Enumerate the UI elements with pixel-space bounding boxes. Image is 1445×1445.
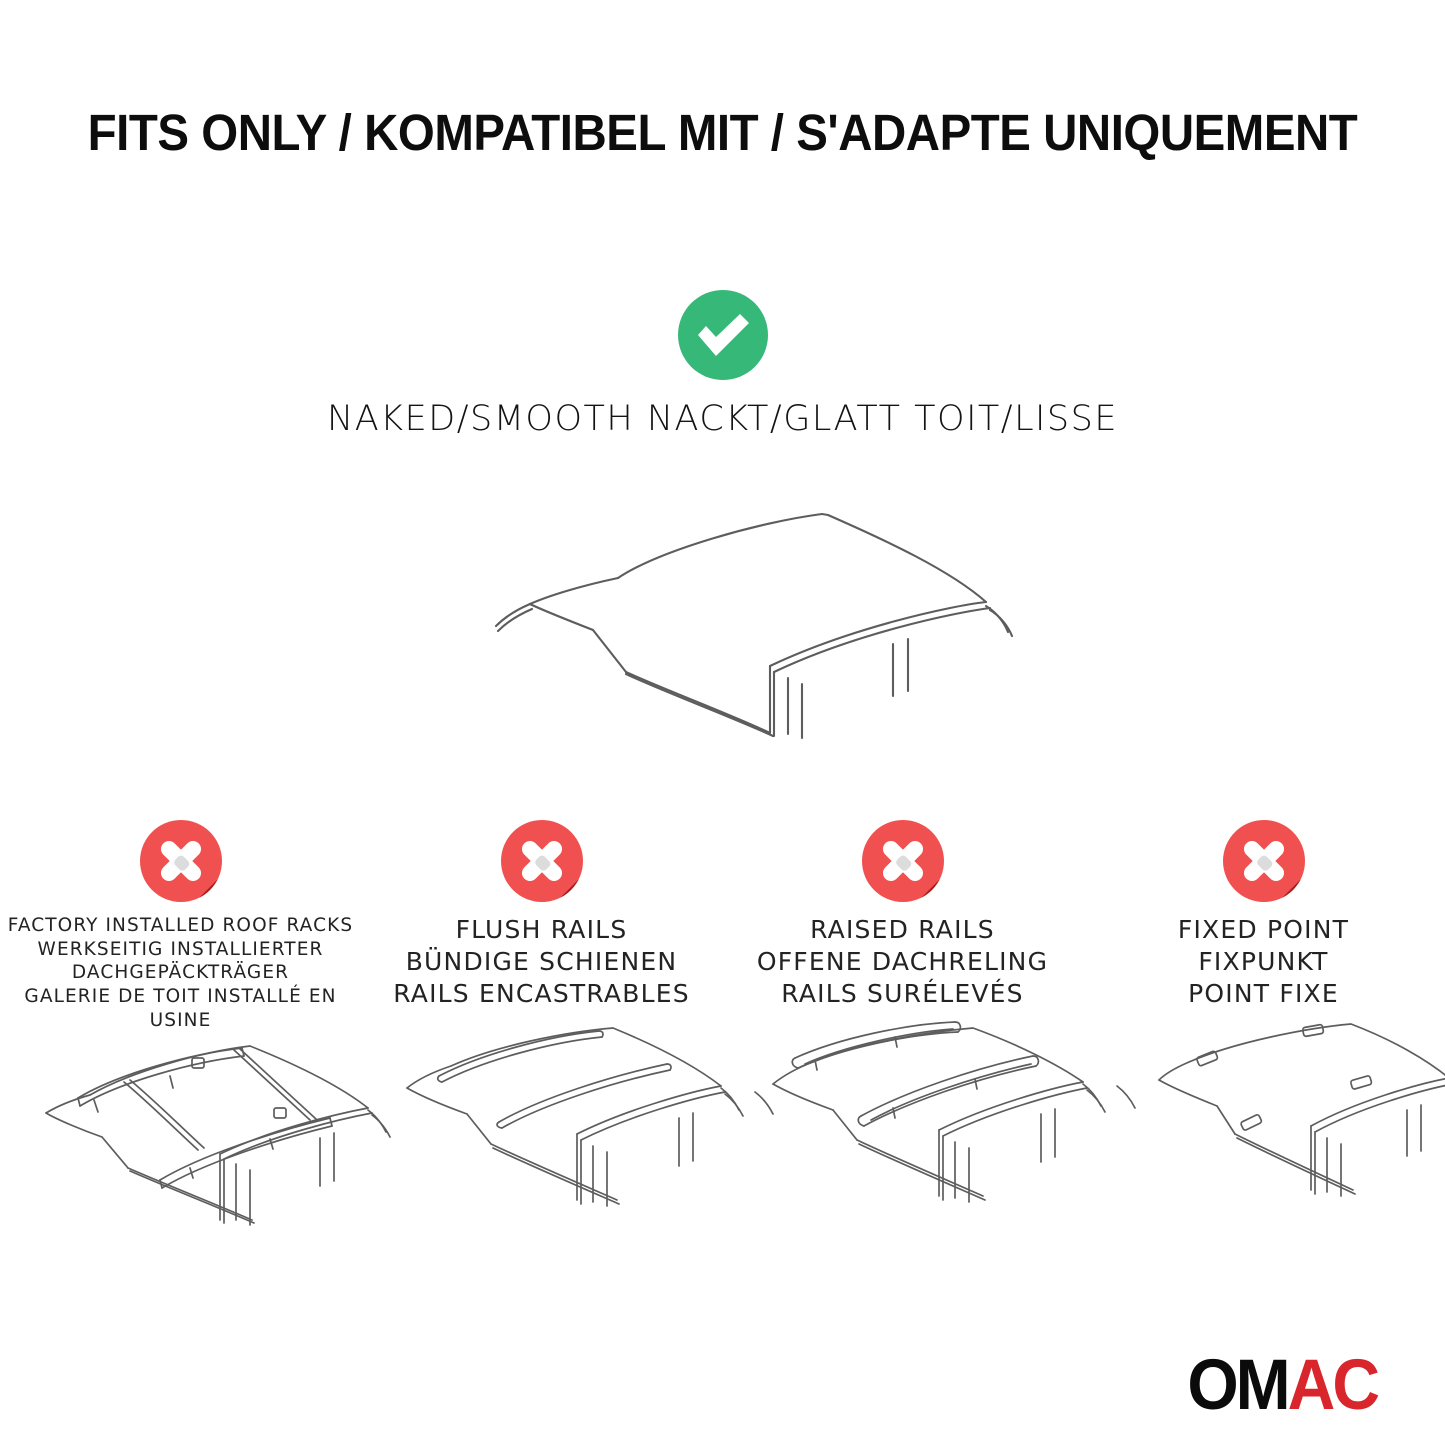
label-line-1: RAISED RAILS: [757, 914, 1048, 946]
x-mark-glyph: [862, 820, 944, 902]
compatible-label: NAKED/SMOOTH NACKT/GLATT TOIT/LISSE: [327, 398, 1118, 440]
page-title: FITS ONLY / KOMPATIBEL MIT / S'ADAPTE UN…: [51, 103, 1395, 162]
label-line-2: BÜNDIGE SCHIENEN: [393, 946, 690, 978]
logo-text-red: AC: [1288, 1344, 1377, 1424]
label-line-3: POINT FIXE: [1178, 978, 1349, 1010]
compatible-label-line-1: NAKED/SMOOTH: [327, 399, 634, 439]
logo-text-black: OM: [1187, 1344, 1287, 1424]
label-line-1: FLUSH RAILS: [393, 914, 690, 946]
label-line-1: FIXED POINT: [1178, 914, 1349, 946]
label-line-3: DACHGEPÄCKTRÄGER: [0, 961, 361, 985]
fixed-point-roof-illustration: [1125, 1020, 1445, 1235]
label-line-2: OFFENE DACHRELING: [757, 946, 1048, 978]
factory-roof-rack-roof-illustration: [20, 1020, 400, 1235]
naked-smooth-roof-illustration: [430, 488, 1030, 748]
incompatible-item-fixed-point: FIXED POINT FIXPUNKT POINT FIXE: [1083, 820, 1444, 1032]
x-mark-glyph: [1223, 820, 1305, 902]
label-line-3: RAILS SURÉLEVÉS: [757, 978, 1048, 1010]
incompatible-label: FLUSH RAILS BÜNDIGE SCHIENEN RAILS ENCAS…: [393, 914, 690, 1010]
check-circle-icon: [678, 290, 768, 380]
incompatible-item-raised-rails: RAISED RAILS OFFENE DACHRELING RAILS SUR…: [722, 820, 1083, 1032]
x-circle-icon: [862, 820, 944, 902]
incompatible-label: FACTORY INSTALLED ROOF RACKS WERKSEITIG …: [0, 914, 361, 1032]
x-circle-icon: [501, 820, 583, 902]
incompatible-label: RAISED RAILS OFFENE DACHRELING RAILS SUR…: [757, 914, 1048, 1010]
infographic-page: FITS ONLY / KOMPATIBEL MIT / S'ADAPTE UN…: [0, 0, 1445, 1445]
label-line-2: WERKSEITIG INSTALLIERTER: [0, 938, 361, 962]
incompatible-item-factory-roof-racks: FACTORY INSTALLED ROOF RACKS WERKSEITIG …: [0, 820, 361, 1032]
check-mark-glyph: [678, 290, 768, 380]
compatible-label-line-2: NACKT/GLATT: [647, 399, 902, 439]
omac-logo: OMAC: [1187, 1348, 1377, 1419]
label-line-3: RAILS ENCASTRABLES: [393, 978, 690, 1010]
x-circle-icon: [140, 820, 222, 902]
x-circle-icon: [1223, 820, 1305, 902]
label-line-2: FIXPUNKT: [1178, 946, 1349, 978]
compatible-section: NAKED/SMOOTH NACKT/GLATT TOIT/LISSE: [0, 290, 1445, 440]
x-mark-glyph: [140, 820, 222, 902]
label-line-1: FACTORY INSTALLED ROOF RACKS: [0, 914, 361, 938]
incompatible-section: FACTORY INSTALLED ROOF RACKS WERKSEITIG …: [0, 820, 1445, 1032]
x-mark-glyph: [501, 820, 583, 902]
raised-rails-roof-illustration: [765, 1020, 1145, 1235]
incompatible-item-flush-rails: FLUSH RAILS BÜNDIGE SCHIENEN RAILS ENCAS…: [361, 820, 722, 1032]
incompatible-label: FIXED POINT FIXPUNKT POINT FIXE: [1178, 914, 1349, 1010]
flush-rails-roof-illustration: [395, 1020, 775, 1235]
compatible-label-line-3: TOIT/LISSE: [914, 399, 1118, 439]
